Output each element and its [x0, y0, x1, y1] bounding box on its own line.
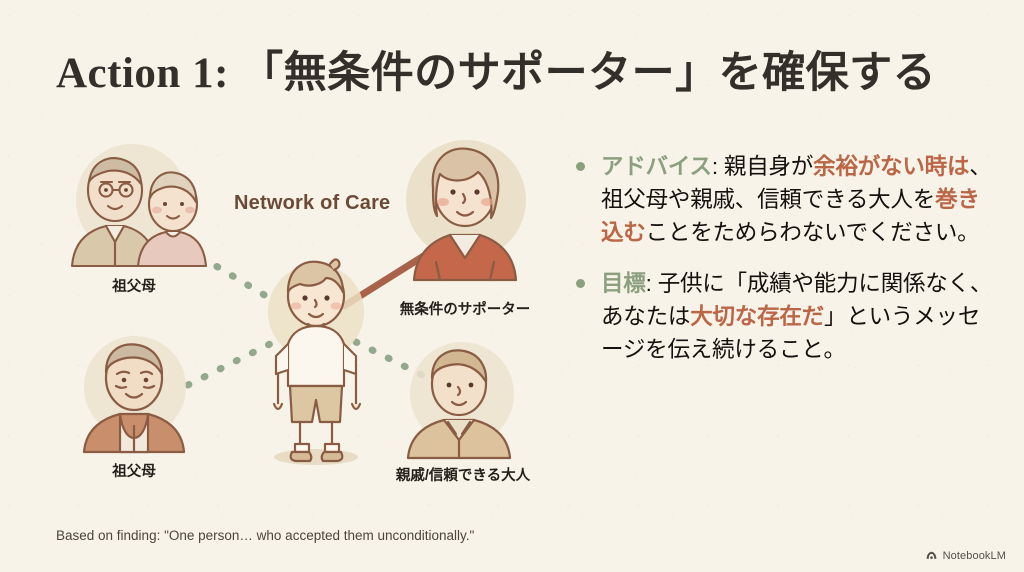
bullet-seg: : 親自身が: [712, 154, 813, 179]
notebooklm-watermark: NotebookLM: [925, 549, 1006, 562]
bullet-lead-goal: 目標: [601, 271, 646, 296]
bullet-seg: ことをためらわないでください。: [646, 220, 980, 245]
footnote-source: Based on finding: "One person… who accep…: [56, 528, 474, 543]
bullet-list: アドバイス: 親自身が余裕がない時は、祖父母や親戚、信頼できる大人を巻き込むこと…: [574, 150, 994, 384]
bullet-item-advice: アドバイス: 親自身が余裕がない時は、祖父母や親戚、信頼できる大人を巻き込むこと…: [574, 150, 994, 249]
elderly-couple-illustration: [60, 138, 208, 268]
bullet-seg-highlight: 大切な存在だ: [690, 304, 824, 329]
bullet-item-goal: 目標: 子供に「成績や能力に関係なく、あなたは大切な存在だ」というメッセージを伝…: [574, 267, 994, 366]
woman-supporter-illustration: [390, 130, 540, 280]
label-grandfather: 祖父母: [70, 460, 198, 481]
node-child: [246, 248, 386, 468]
bullet-seg-highlight: 余裕がない時は: [813, 154, 969, 179]
label-unconditional-supporter: 無条件のサポーター: [358, 298, 572, 319]
child-illustration: [246, 248, 386, 468]
node-trusted-adult: [396, 338, 526, 458]
bullet-marker-icon: [576, 162, 585, 171]
notebooklm-logo-icon: [925, 549, 938, 562]
trusted-adult-illustration: [396, 338, 526, 458]
node-grandparents-pair: [60, 138, 208, 268]
watermark-label: NotebookLM: [943, 550, 1006, 562]
node-grandfather: [70, 330, 198, 452]
label-grandparents-pair: 祖父母: [60, 275, 208, 296]
page-title: Action 1: 「無条件のサポーター」を確保する: [56, 38, 936, 100]
elderly-man-illustration: [70, 330, 198, 452]
slide-canvas: Action 1: 「無条件のサポーター」を確保する Network of Ca…: [0, 0, 1024, 572]
node-unconditional-supporter: [390, 130, 540, 280]
label-trusted-adult: 親戚/信頼できる大人: [358, 464, 568, 485]
bullet-lead-advice: アドバイス: [601, 154, 712, 179]
bullet-marker-icon: [576, 279, 585, 288]
network-of-care-diagram: Network of Care: [38, 130, 568, 500]
network-heading: Network of Care: [234, 192, 390, 215]
